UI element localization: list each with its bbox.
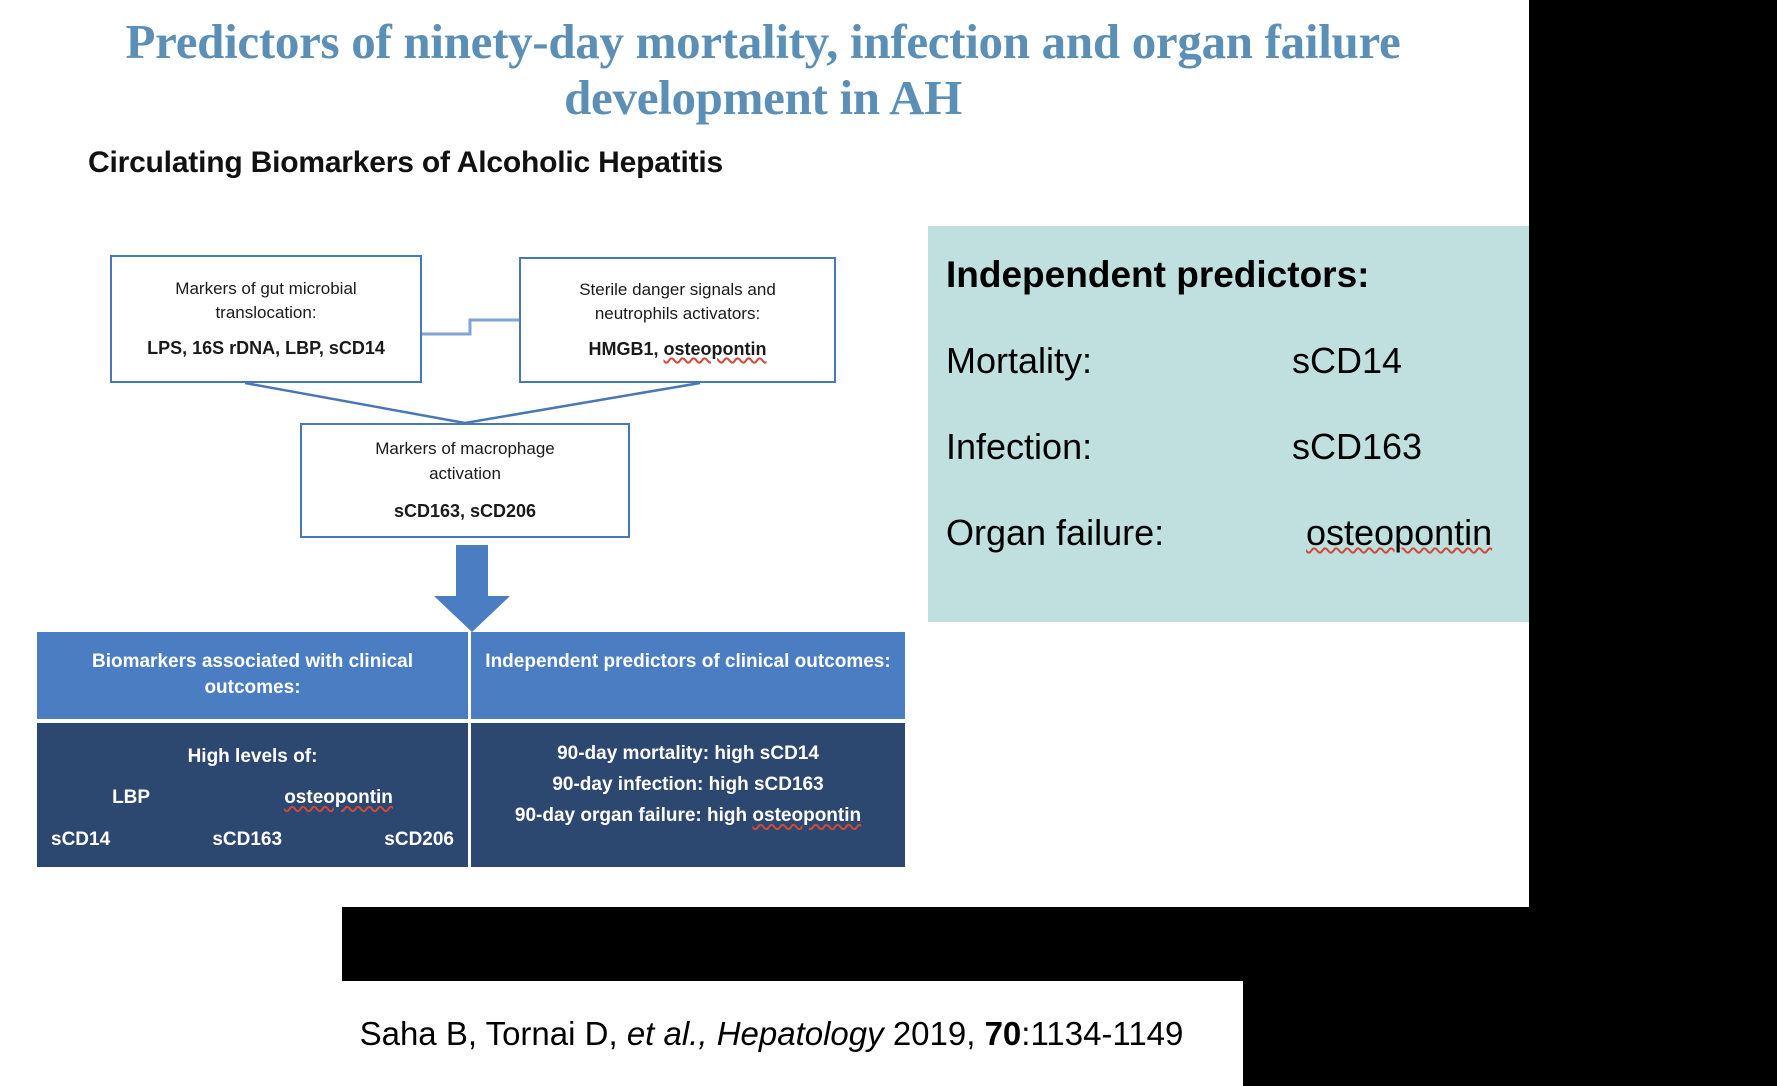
box-macro-line1: Markers of macrophage (375, 437, 555, 462)
predictor-value-infection: sCD163 (1292, 426, 1517, 468)
table-header-independent-predictors: Independent predictors of clinical outco… (471, 632, 905, 719)
figure-heading: Circulating Biomarkers of Alcoholic Hepa… (88, 146, 723, 180)
box-macro-markers: sCD163, sCD206 (394, 498, 536, 524)
table-cell-high-levels: High levels of: LBP osteopontin sCD14 sC… (37, 723, 471, 867)
citation-pages: :1134-1149 (1021, 1015, 1183, 1052)
predictor-infection-line: 90-day infection: high sCD163 (479, 774, 897, 796)
table-header-biomarkers: Biomarkers associated with clinical outc… (37, 632, 471, 719)
outcomes-table: Biomarkers associated with clinical outc… (37, 632, 905, 867)
marker-osteopontin: osteopontin (284, 787, 393, 809)
marker-lbp: LBP (112, 787, 150, 809)
predictor-organ-failure-line: 90-day organ failure: high osteopontin (479, 805, 897, 827)
independent-predictors-title: Independent predictors: (946, 254, 1517, 296)
citation-authors: Saha B, Tornai D, (360, 1015, 627, 1052)
box-gut-markers: LPS, 16S rDNA, LBP, sCD14 (147, 335, 385, 361)
box-gut-line1: Markers of gut microbial (175, 277, 356, 302)
predictor-row-infection: Infection: sCD163 (940, 426, 1517, 468)
box-gut-line2: translocation: (215, 301, 316, 326)
marker-scd14: sCD14 (51, 829, 110, 851)
predictor-value-organ-failure: osteopontin (1292, 512, 1517, 554)
box-macrophage-activation: Markers of macrophage activation sCD163,… (300, 423, 630, 538)
predictor-organ-failure-prefix: 90-day organ failure: high (515, 805, 753, 826)
marker-scd163: sCD163 (212, 829, 282, 851)
marker-scd206: sCD206 (384, 829, 454, 851)
predictor-mortality-line: 90-day mortality: high sCD14 (479, 743, 897, 765)
high-levels-row-1: LBP osteopontin (45, 787, 460, 809)
box-sterile-markers: HMGB1, osteopontin (589, 336, 767, 362)
citation-journal: et al., Hepatology (627, 1015, 884, 1052)
box-gut-microbial-translocation: Markers of gut microbial translocation: … (110, 255, 422, 383)
predictor-label-infection: Infection: (940, 426, 1292, 468)
citation-volume: 70 (985, 1015, 1022, 1052)
box-sterile-danger-signals: Sterile danger signals and neutrophils a… (519, 257, 836, 383)
high-levels-row-2: sCD14 sCD163 sCD206 (45, 829, 460, 851)
box-sterile-line2: neutrophils activators: (595, 302, 760, 327)
box-sterile-hmgb1: HMGB1, (589, 339, 664, 359)
slide-root: Predictors of ninety-day mortality, infe… (0, 0, 1777, 1086)
independent-predictors-panel: Independent predictors: Mortality: sCD14… (928, 226, 1529, 622)
box-sterile-line1: Sterile danger signals and (579, 278, 776, 303)
table-cell-independent-predictors: 90-day mortality: high sCD14 90-day infe… (471, 723, 905, 867)
table-body-row: High levels of: LBP osteopontin sCD14 sC… (37, 723, 905, 867)
predictor-organ-failure-osteopontin: osteopontin (752, 805, 861, 826)
predictor-label-organ-failure: Organ failure: (940, 512, 1292, 554)
citation-year: 2019, (884, 1015, 985, 1052)
citation-text: Saha B, Tornai D, et al., Hepatology 201… (360, 1015, 1184, 1053)
predictor-value-mortality: sCD14 (1292, 340, 1517, 382)
citation-bar: Saha B, Tornai D, et al., Hepatology 201… (300, 981, 1243, 1086)
predictor-label-mortality: Mortality: (940, 340, 1292, 382)
predictor-row-mortality: Mortality: sCD14 (940, 340, 1517, 382)
slide-title: Predictors of ninety-day mortality, infe… (28, 14, 1498, 127)
box-sterile-osteopontin: osteopontin (664, 339, 767, 359)
slide-white-background-lower-left (0, 907, 342, 1086)
table-header-row: Biomarkers associated with clinical outc… (37, 632, 905, 719)
box-macro-line2: activation (429, 462, 501, 487)
predictor-row-organ-failure: Organ failure: osteopontin (940, 512, 1517, 554)
high-levels-title: High levels of: (45, 746, 460, 768)
